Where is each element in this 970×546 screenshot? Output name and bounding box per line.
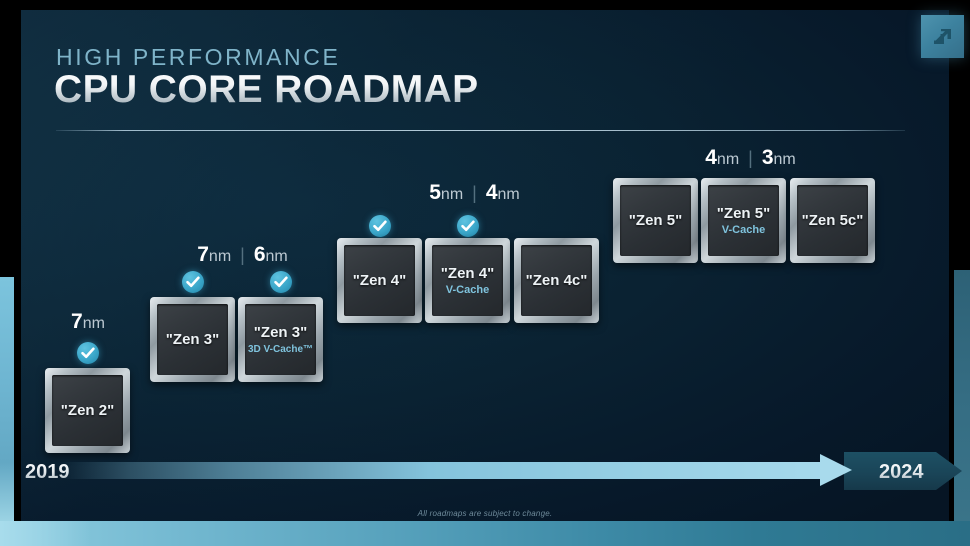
- check-badge-zen3: [182, 271, 204, 293]
- process-node-label-zen2: 7nm: [33, 310, 143, 334]
- footnote-disclaimer: All roadmaps are subject to change.: [0, 509, 970, 518]
- roadmap-slide: HIGH PERFORMANCE CPU CORE ROADMAP 7nm "Z…: [0, 0, 970, 546]
- node-separator: |: [472, 183, 477, 204]
- chip-die: "Zen 5": [620, 185, 691, 256]
- node-unit: nm: [266, 248, 288, 265]
- chip-die: "Zen 2": [52, 375, 123, 446]
- node-value: 7: [197, 243, 209, 266]
- amd-arrow-logo-icon: [921, 15, 964, 58]
- node-unit: nm: [717, 151, 739, 168]
- chip-subtitle: V-Cache: [446, 284, 489, 296]
- process-node-label-zen3: 7nm|6nm: [145, 243, 340, 267]
- chip-die: "Zen 3" 3D V-Cache™: [245, 304, 316, 375]
- check-icon: [270, 271, 292, 293]
- check-badge-zen2: [77, 342, 99, 364]
- slide-kicker: HIGH PERFORMANCE: [56, 44, 340, 71]
- node-unit: nm: [441, 186, 463, 203]
- node-separator: |: [240, 245, 245, 266]
- chip-zen2[interactable]: "Zen 2": [45, 368, 130, 453]
- check-icon: [369, 215, 391, 237]
- chip-name: "Zen 5c": [802, 212, 864, 229]
- bottom-edge-left-highlight: [0, 521, 90, 546]
- chip-zen5c[interactable]: "Zen 5c": [790, 178, 875, 263]
- amd-logo: [921, 15, 964, 58]
- chip-die: "Zen 5c": [797, 185, 868, 256]
- chip-name: "Zen 3": [166, 331, 219, 348]
- chip-die: "Zen 3": [157, 304, 228, 375]
- node-value: 7: [71, 310, 83, 333]
- check-badge-zen4: [369, 215, 391, 237]
- chip-zen4c[interactable]: "Zen 4c": [514, 238, 599, 323]
- right-edge-glow: [954, 270, 970, 525]
- chip-zen3-3d-vcache[interactable]: "Zen 3" 3D V-Cache™: [238, 297, 323, 382]
- timeline-arrow: [60, 462, 860, 479]
- chip-subtitle: 3D V-Cache™: [248, 344, 313, 355]
- page-title: CPU CORE ROADMAP: [54, 68, 479, 112]
- node-value: 4: [486, 181, 498, 204]
- chip-die: "Zen 5" V-Cache: [708, 185, 779, 256]
- node-unit: nm: [498, 186, 520, 203]
- chip-zen5-vcache[interactable]: "Zen 5" V-Cache: [701, 178, 786, 263]
- check-icon: [182, 271, 204, 293]
- check-badge-zen3-vcache: [270, 271, 292, 293]
- node-unit: nm: [83, 315, 105, 332]
- check-icon: [457, 215, 479, 237]
- node-value: 4: [705, 146, 717, 169]
- chip-zen3[interactable]: "Zen 3": [150, 297, 235, 382]
- process-node-label-zen5: 4nm|3nm: [608, 146, 893, 170]
- node-unit: nm: [774, 151, 796, 168]
- chip-name: "Zen 2": [61, 402, 114, 419]
- node-value: 6: [254, 243, 266, 266]
- chip-name: "Zen 5": [629, 212, 682, 229]
- chip-subtitle: V-Cache: [722, 224, 765, 236]
- node-value: 5: [429, 181, 441, 204]
- node-separator: |: [748, 148, 753, 169]
- title-divider: [56, 130, 905, 131]
- chip-zen4[interactable]: "Zen 4": [337, 238, 422, 323]
- node-unit: nm: [209, 248, 231, 265]
- chip-zen4-vcache[interactable]: "Zen 4" V-Cache: [425, 238, 510, 323]
- chip-name: "Zen 4": [441, 265, 494, 282]
- chip-name: "Zen 4c": [526, 272, 588, 289]
- timeline-end-year: 2024: [879, 461, 924, 484]
- check-icon: [77, 342, 99, 364]
- timeline-arrow-head-icon: [820, 454, 852, 486]
- chip-die: "Zen 4c": [521, 245, 592, 316]
- process-node-label-zen4: 5nm|4nm: [332, 181, 617, 205]
- node-value: 3: [762, 146, 774, 169]
- bottom-edge-glow: [0, 521, 970, 546]
- left-edge-glow: [0, 277, 14, 525]
- chip-name: "Zen 5": [717, 205, 770, 222]
- timeline-arrow-shaft: [60, 462, 828, 479]
- chip-name: "Zen 4": [353, 272, 406, 289]
- chip-die: "Zen 4" V-Cache: [432, 245, 503, 316]
- chip-name: "Zen 3": [254, 324, 307, 341]
- chip-zen5[interactable]: "Zen 5": [613, 178, 698, 263]
- chip-die: "Zen 4": [344, 245, 415, 316]
- check-badge-zen4-vcache: [457, 215, 479, 237]
